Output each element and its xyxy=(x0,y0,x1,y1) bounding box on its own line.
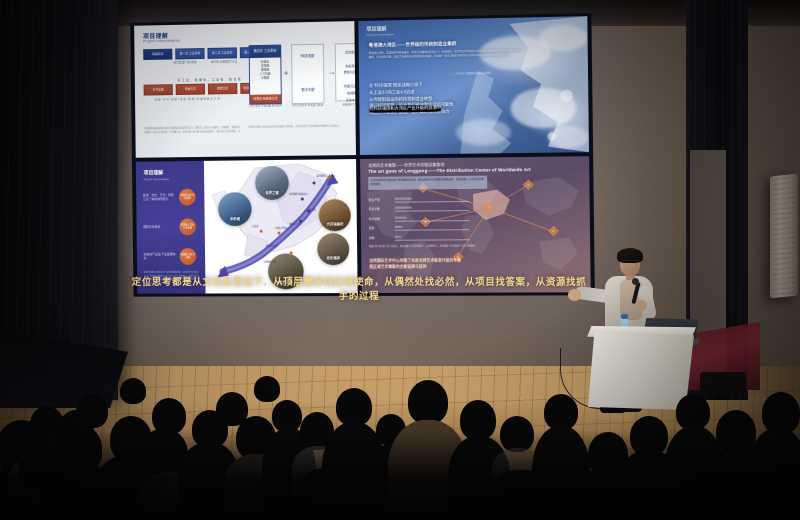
slide1-mid-labels: 手工业、机械化、工业化、信息化 xyxy=(178,77,242,82)
slide1-fourth-revolution-box: 第四次 工业革命 智能化 互联网 物联网 人工智能 大数据 智慧化 新媒体艺术 xyxy=(249,45,282,105)
speaker-right-hand xyxy=(636,300,647,311)
slide1-footnote: 在国家科技强国战略与数字中国建设的宏观背景之下，第四次工业革命以智能化、互联网化… xyxy=(144,125,347,135)
slide4-bottom-line: 是区域艺术集聚的全新延续与延伸 xyxy=(369,264,461,270)
eyeglasses-icon xyxy=(621,260,639,265)
slide3-orange-dot: 粤港澳 大湾区 艺术走廊 xyxy=(179,218,196,235)
map-pin-icon xyxy=(290,251,293,254)
slide4-stat-label: 画廊 xyxy=(369,226,395,230)
slide4-stat-value: 1000000+ xyxy=(395,215,470,222)
slide-top-right: 项目理解 Project Interpretation 粤港澳大湾区——世界级的… xyxy=(358,16,589,155)
slide3-orange-dot: 新媒体 文化 产业群 xyxy=(180,248,197,265)
slide2-key-lines: 在"科技强国"国家战略引领下 从工业3.0向工业4.0迈进 从传统制造业向科技型… xyxy=(369,80,531,117)
speaker-left-hand xyxy=(568,289,581,301)
slide4-stat-value: 8000+ xyxy=(395,224,470,231)
slide3-map-label: 龙岗国际艺术中心 xyxy=(316,173,335,177)
slide3-subtitle: Project Interpretation xyxy=(144,177,169,181)
projection-screen: 项目理解 Project Interpretation 机械革命 第一次 工业革… xyxy=(130,13,595,297)
slide3-map-label: 南山科技园 xyxy=(266,244,278,248)
slide3-map-label: 深圳国际会展中心 xyxy=(289,192,308,196)
wall-speaker-icon xyxy=(770,174,798,299)
slide3-orange-dot: 世界级 文化 湾区战略 xyxy=(179,189,196,206)
slide1-col3-caption: 新媒国际艺术中心 xyxy=(333,103,356,107)
slide1-blue-box: 机械革命 xyxy=(143,49,172,60)
slide3-map-label: 福田中心区 xyxy=(289,221,301,225)
projected-caption: 定位思考都是从文化反思当下，从顶层需求找区域使命，从偶然处找必然，从项目找答案，… xyxy=(128,274,590,302)
slide4-stat-value: 20000000000 xyxy=(395,205,470,212)
slide1-subtitle: Project Interpretation xyxy=(143,39,180,44)
map-pin-icon xyxy=(260,230,263,233)
slide-bottom-right: 龙岗的艺术集聚——世界艺术的输送集散地 The art gone of Long… xyxy=(360,156,591,293)
slide2-line: 在科技强国和大湾区产业升级的浪潮中 xyxy=(369,105,441,113)
slide3-photo-label: 华侨城 xyxy=(218,216,251,221)
slide4-stat-value: 20000000000 xyxy=(395,196,470,203)
slide1-col2-top: "科技强国" xyxy=(292,53,323,59)
microphone-head-icon xyxy=(632,278,639,285)
slide1-col2-bottom: "数字中国" xyxy=(293,87,324,92)
slide3-photo-inset: 欢乐海岸 xyxy=(317,233,349,265)
slide4-stat-value: 500+ xyxy=(395,234,470,241)
slide3-map-label: 深圳湾 xyxy=(309,207,316,211)
slide2-subtitle: Project Interpretation xyxy=(366,32,394,37)
slide1-blue-box: 第二次 工业革命 xyxy=(207,47,237,58)
slide3-photo-label: 世界之窗 xyxy=(255,190,289,195)
map-pin-icon xyxy=(277,232,280,235)
slide4-stat-label: 年交易量 xyxy=(369,216,395,220)
slide1-under-text: 戏剧/音乐/电影/绘画/电视/新媒体数字艺术 xyxy=(154,96,220,101)
slide1-col2-caption: 时代背景需求 新机遇与挑战 xyxy=(290,104,326,108)
map-pin-icon xyxy=(301,198,304,201)
slide4-bottom-lines: 龙岗国际艺术中心攻略了未来龙岗艺术联变升级的号角 是区域艺术集聚的全新延续与延伸 xyxy=(369,258,461,270)
slide1-column2: "科技强国" "数字中国" xyxy=(291,44,324,104)
slide3-photo-label: 大芬油画村 xyxy=(319,221,351,226)
slide3-map-label: 光明科学城 xyxy=(264,259,276,263)
slide3-map-label: 宝安区 xyxy=(252,224,259,228)
map-pin-icon xyxy=(313,181,316,184)
slide1-column3: 文化输出 未来场景 想象与范式 智能沉浸式 新媒体 艺术中心 xyxy=(335,43,356,102)
slide-top-left: 项目理解 Project Interpretation 机械革命 第一次 工业革… xyxy=(134,21,356,158)
slide4-stat-label: 年交易额 xyxy=(369,207,395,211)
slide3-photo-inset: 大芬油画村 xyxy=(319,199,351,231)
slide1-red-box: 艺术品类 xyxy=(144,84,173,95)
slide1-col1-caption: 艺术与科技 互促共融 科技迭代 xyxy=(247,104,283,108)
table-row: 机构 500+ xyxy=(369,232,470,242)
equipment-bag xyxy=(700,372,746,394)
slide3-photo-label: 欢乐海岸 xyxy=(317,255,349,260)
slide1-blue-box: 第一次 工业革命 xyxy=(175,48,204,59)
foreground-shadow xyxy=(0,430,800,520)
slide3-photo-inset: 世界之窗 xyxy=(255,166,289,200)
slide1-bigbox-footer: 智慧化 新媒体艺术 xyxy=(250,94,281,103)
slide4-stat-label: 年生产值 xyxy=(368,197,394,201)
plus-icon: + xyxy=(283,68,288,78)
slide1-bigbox-header: 第四次 工业革命 xyxy=(250,46,281,59)
water-bottle-cap-icon xyxy=(621,314,628,319)
slide3-tag: 区域、文化、艺术、科技 三位一体的城市名片 xyxy=(143,193,176,202)
slide3-map-label: 前海自贸区 xyxy=(275,226,287,230)
podium: 龙岗院校 xyxy=(588,332,694,410)
slide1-bigbox-body: 智能化 互联网 物联网 人工智能 大数据 xyxy=(250,57,281,94)
lecture-hall-photo: 项目理解 Project Interpretation 机械革命 第一次 工业革… xyxy=(0,0,800,520)
slide4-stats-table: 年生产值 20000000000 年交易额 20000000000 年交易量 1… xyxy=(368,194,469,243)
slide4-band-text: 大型活动的举行及文化艺术的输送的价值，通过文化为产业赋能的视角出发，为未来融入人… xyxy=(368,176,487,190)
slide2-credit: ——2023年广东省制造业高质量发展报告 xyxy=(451,71,491,76)
slide1-red-box: 传统艺术 xyxy=(176,84,205,95)
slide4-stat-label: 机构 xyxy=(369,236,395,240)
slide1-red-box: 视觉艺术 xyxy=(208,83,238,94)
slide3-title: 项目理解 xyxy=(144,169,164,176)
slide1-sub-desc: 蒸汽机 国产动力化生 xyxy=(171,61,198,69)
slide3-tag: 国际文化走廊 xyxy=(143,225,160,229)
slide1-sub-desc: 电气化 大规模生产分工 xyxy=(211,60,239,68)
slide3-tag: 新媒体产业链 产业集群布局 xyxy=(144,252,177,261)
slide3-photo-inset: 华侨城 xyxy=(218,192,252,226)
